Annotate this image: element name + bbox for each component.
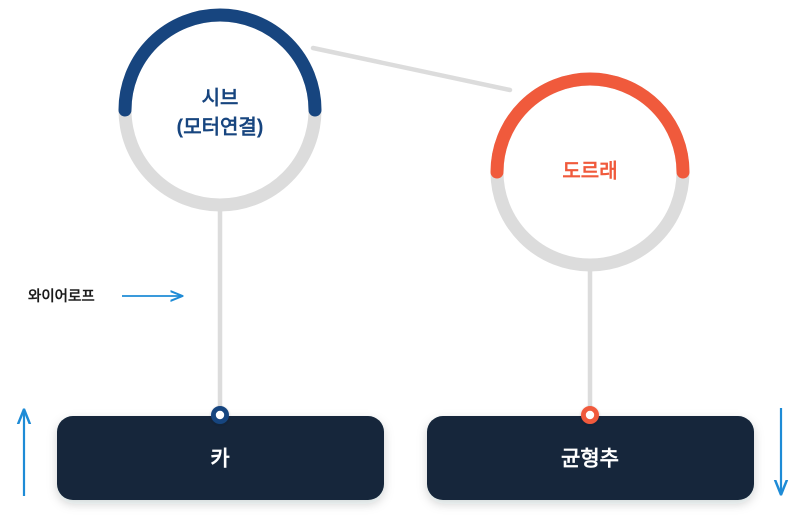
- counterweight-box-label: 균형추: [561, 447, 619, 471]
- pulley-label: 도르래: [562, 159, 617, 182]
- sheave-label-line2: (모터연결): [177, 115, 264, 138]
- pulley-active-arc: [497, 79, 683, 172]
- elevator-traction-diagram: 시브 (모터연결) 도르래 와이어로프 카: [0, 0, 802, 524]
- car-box[interactable]: 카: [57, 416, 384, 500]
- wire-rope-annotation: 와이어로프: [28, 287, 182, 305]
- sheave-label-line1: 시브: [202, 86, 239, 109]
- car-connector-dot: [211, 406, 229, 424]
- counterweight-box[interactable]: 균형추: [427, 416, 754, 500]
- sheave-wheel[interactable]: 시브 (모터연결): [125, 15, 315, 205]
- counterweight-connector-inner: [586, 411, 594, 419]
- counterweight-connector-dot: [581, 406, 599, 424]
- car-connector-inner: [216, 411, 224, 419]
- rope-sheave-to-pulley: [313, 48, 510, 90]
- pulley-wheel[interactable]: 도르래: [497, 79, 683, 265]
- wire-rope-label: 와이어로프: [28, 287, 95, 305]
- car-box-label: 카: [210, 448, 230, 471]
- diagram-canvas: 시브 (모터연결) 도르래 와이어로프 카: [0, 0, 802, 524]
